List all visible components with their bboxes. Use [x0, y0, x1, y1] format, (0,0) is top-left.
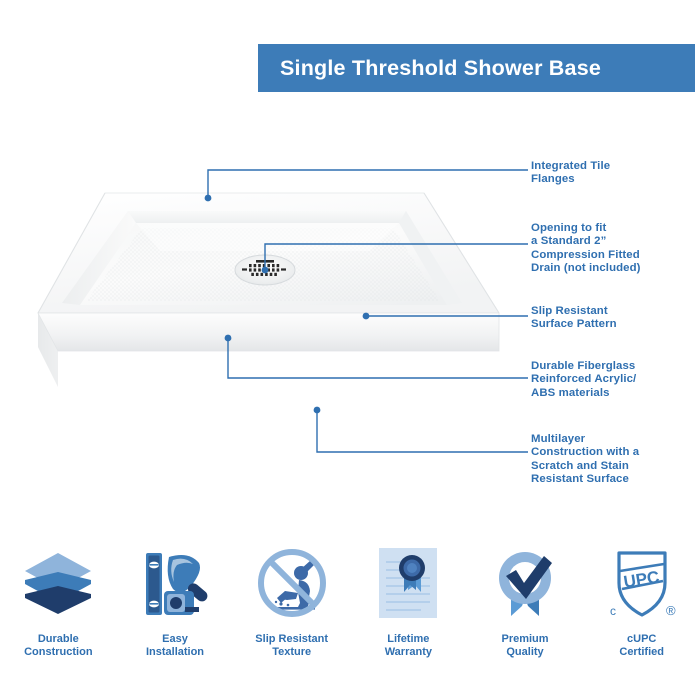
header-banner: Single Threshold Shower Base	[258, 44, 695, 92]
feature-cupc-certified: UPC c ® cUPC Certified	[583, 543, 700, 688]
feature-label: Easy Installation	[146, 633, 204, 659]
no-slip-prohibition-icon	[255, 543, 329, 623]
callout-drain-opening: Opening to fit a Standard 2” Compression…	[531, 222, 641, 276]
feature-icon-strip: Durable Construction	[0, 543, 700, 688]
shower-base-illustration	[10, 165, 520, 465]
feature-premium-quality: Premium Quality	[467, 543, 584, 688]
stacked-layers-icon	[22, 543, 94, 623]
feature-label: Premium Quality	[501, 633, 548, 659]
drain-grate	[235, 255, 295, 285]
feature-label: Slip Resistant Texture	[255, 633, 328, 659]
feature-easy-installation: Easy Installation	[117, 543, 234, 688]
upc-prefix-text: c	[610, 604, 616, 618]
upc-registered-mark: ®	[666, 603, 676, 618]
feature-label: Lifetime Warranty	[385, 633, 432, 659]
callout-durable-fiberglass-materials: Durable Fiberglass Reinforced Acrylic/ A…	[531, 360, 636, 400]
feature-label: Durable Construction	[24, 633, 92, 659]
page-title: Single Threshold Shower Base	[258, 56, 601, 81]
level-trowel-tape-icon	[139, 543, 211, 623]
feature-lifetime-warranty: Lifetime Warranty	[350, 543, 467, 688]
feature-durable-construction: Durable Construction	[0, 543, 117, 688]
callout-slip-resistant-surface-pattern: Slip Resistant Surface Pattern	[531, 305, 617, 332]
upc-shield-icon: UPC c ®	[603, 543, 681, 623]
callout-multilayer-construction: Multilayer Construction with a Scratch a…	[531, 433, 639, 487]
certificate-seal-icon	[375, 543, 441, 623]
callout-integrated-tile-flanges: Integrated Tile Flanges	[531, 160, 610, 187]
product-image	[10, 165, 520, 465]
checkmark-rosette-icon	[489, 543, 561, 623]
feature-slip-resistant-texture: Slip Resistant Texture	[233, 543, 350, 688]
feature-label: cUPC Certified	[619, 633, 664, 659]
